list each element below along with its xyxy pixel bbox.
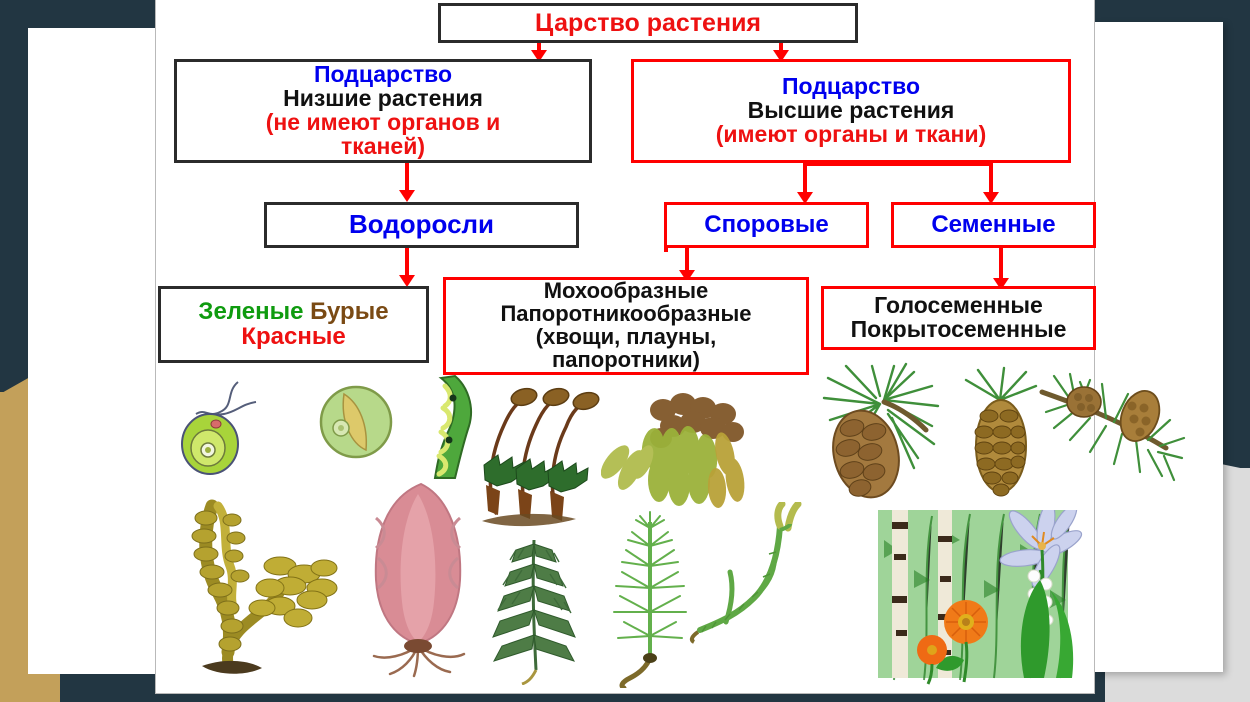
arrowhead-lower-to-algae	[399, 190, 415, 202]
node-spore-groups-line1: Мохообразные	[544, 280, 709, 303]
node-algae-groups[interactable]: Зеленые Бурые Красные	[158, 286, 429, 363]
node-kingdom-label: Царство растения	[535, 10, 761, 36]
clubmoss-icon	[686, 502, 816, 652]
node-algae-label: Водоросли	[349, 211, 494, 238]
fern-frond-icon	[476, 520, 596, 685]
node-lower-subkingdom-line4: тканей)	[341, 135, 425, 159]
node-seed-groups-line1: Голосеменные	[874, 294, 1043, 318]
red-algae-icon	[346, 478, 496, 678]
moss-sporophyte-icon	[476, 385, 601, 530]
node-algae-groups-brown: Бурые	[310, 298, 388, 325]
node-spore-label: Споровые	[704, 213, 828, 238]
node-lower-subkingdom-line3: (не имеют органов и	[266, 111, 500, 135]
pine-branch-cones-icon	[1036, 364, 1186, 489]
node-lower-subkingdom[interactable]: Подцарство Низшие растения (не имеют орг…	[174, 59, 592, 163]
node-seed-label: Семенные	[931, 213, 1055, 238]
node-spore-groups[interactable]: Мохообразные Папоротникообразные (хвощи,…	[443, 277, 809, 375]
node-seed-groups[interactable]: Голосеменные Покрытосеменные	[821, 286, 1096, 350]
node-algae-groups-row1: Зеленые Бурые	[198, 300, 388, 325]
decorative-right-panel	[1095, 22, 1223, 672]
spirogyra-icon	[411, 374, 481, 484]
flowering-meadow-icon	[874, 510, 1089, 690]
connector-lower-to-algae	[405, 162, 409, 192]
node-algae-groups-red: Красные	[241, 325, 345, 350]
node-higher-subkingdom-line2: Высшие растения	[748, 99, 955, 123]
brown-algae-icon	[184, 488, 349, 683]
connector-seed-to-groups	[999, 248, 1003, 282]
node-kingdom[interactable]: Царство растения	[438, 3, 858, 43]
node-lower-subkingdom-line2: Низшие растения	[283, 87, 483, 111]
spruce-cone-icon	[956, 366, 1046, 506]
node-higher-subkingdom[interactable]: Подцарство Высшие растения (имеют органы…	[631, 59, 1071, 163]
node-algae-groups-green: Зеленые	[198, 298, 303, 325]
node-seed[interactable]: Семенные	[891, 202, 1096, 248]
node-lower-subkingdom-line1: Подцарство	[314, 63, 452, 87]
node-seed-groups-line2: Покрытосеменные	[851, 318, 1067, 342]
pine-cone-branch-icon	[814, 362, 954, 507]
node-higher-subkingdom-line3: (имеют органы и ткани)	[716, 123, 987, 147]
node-higher-subkingdom-line1: Подцарство	[782, 75, 920, 99]
node-spore-groups-line3: (хвощи, плауны,	[536, 326, 716, 349]
slide-canvas: Царство растения Подцарство Низшие расте…	[155, 0, 1095, 694]
connector-higher-to-spore	[803, 162, 807, 194]
chlamydomonas-icon	[176, 378, 286, 483]
connector-higher-to-seed	[989, 162, 993, 194]
connector-algae-to-groups	[405, 248, 409, 278]
node-algae[interactable]: Водоросли	[264, 202, 579, 248]
node-spore[interactable]: Споровые	[664, 202, 869, 248]
connector-spore-vert	[664, 248, 668, 252]
decorative-left-panel	[28, 28, 158, 674]
chlorella-icon	[316, 382, 396, 462]
node-spore-groups-line4: папоротники)	[552, 349, 700, 372]
node-spore-groups-line2: Папоротникообразные	[500, 303, 751, 326]
